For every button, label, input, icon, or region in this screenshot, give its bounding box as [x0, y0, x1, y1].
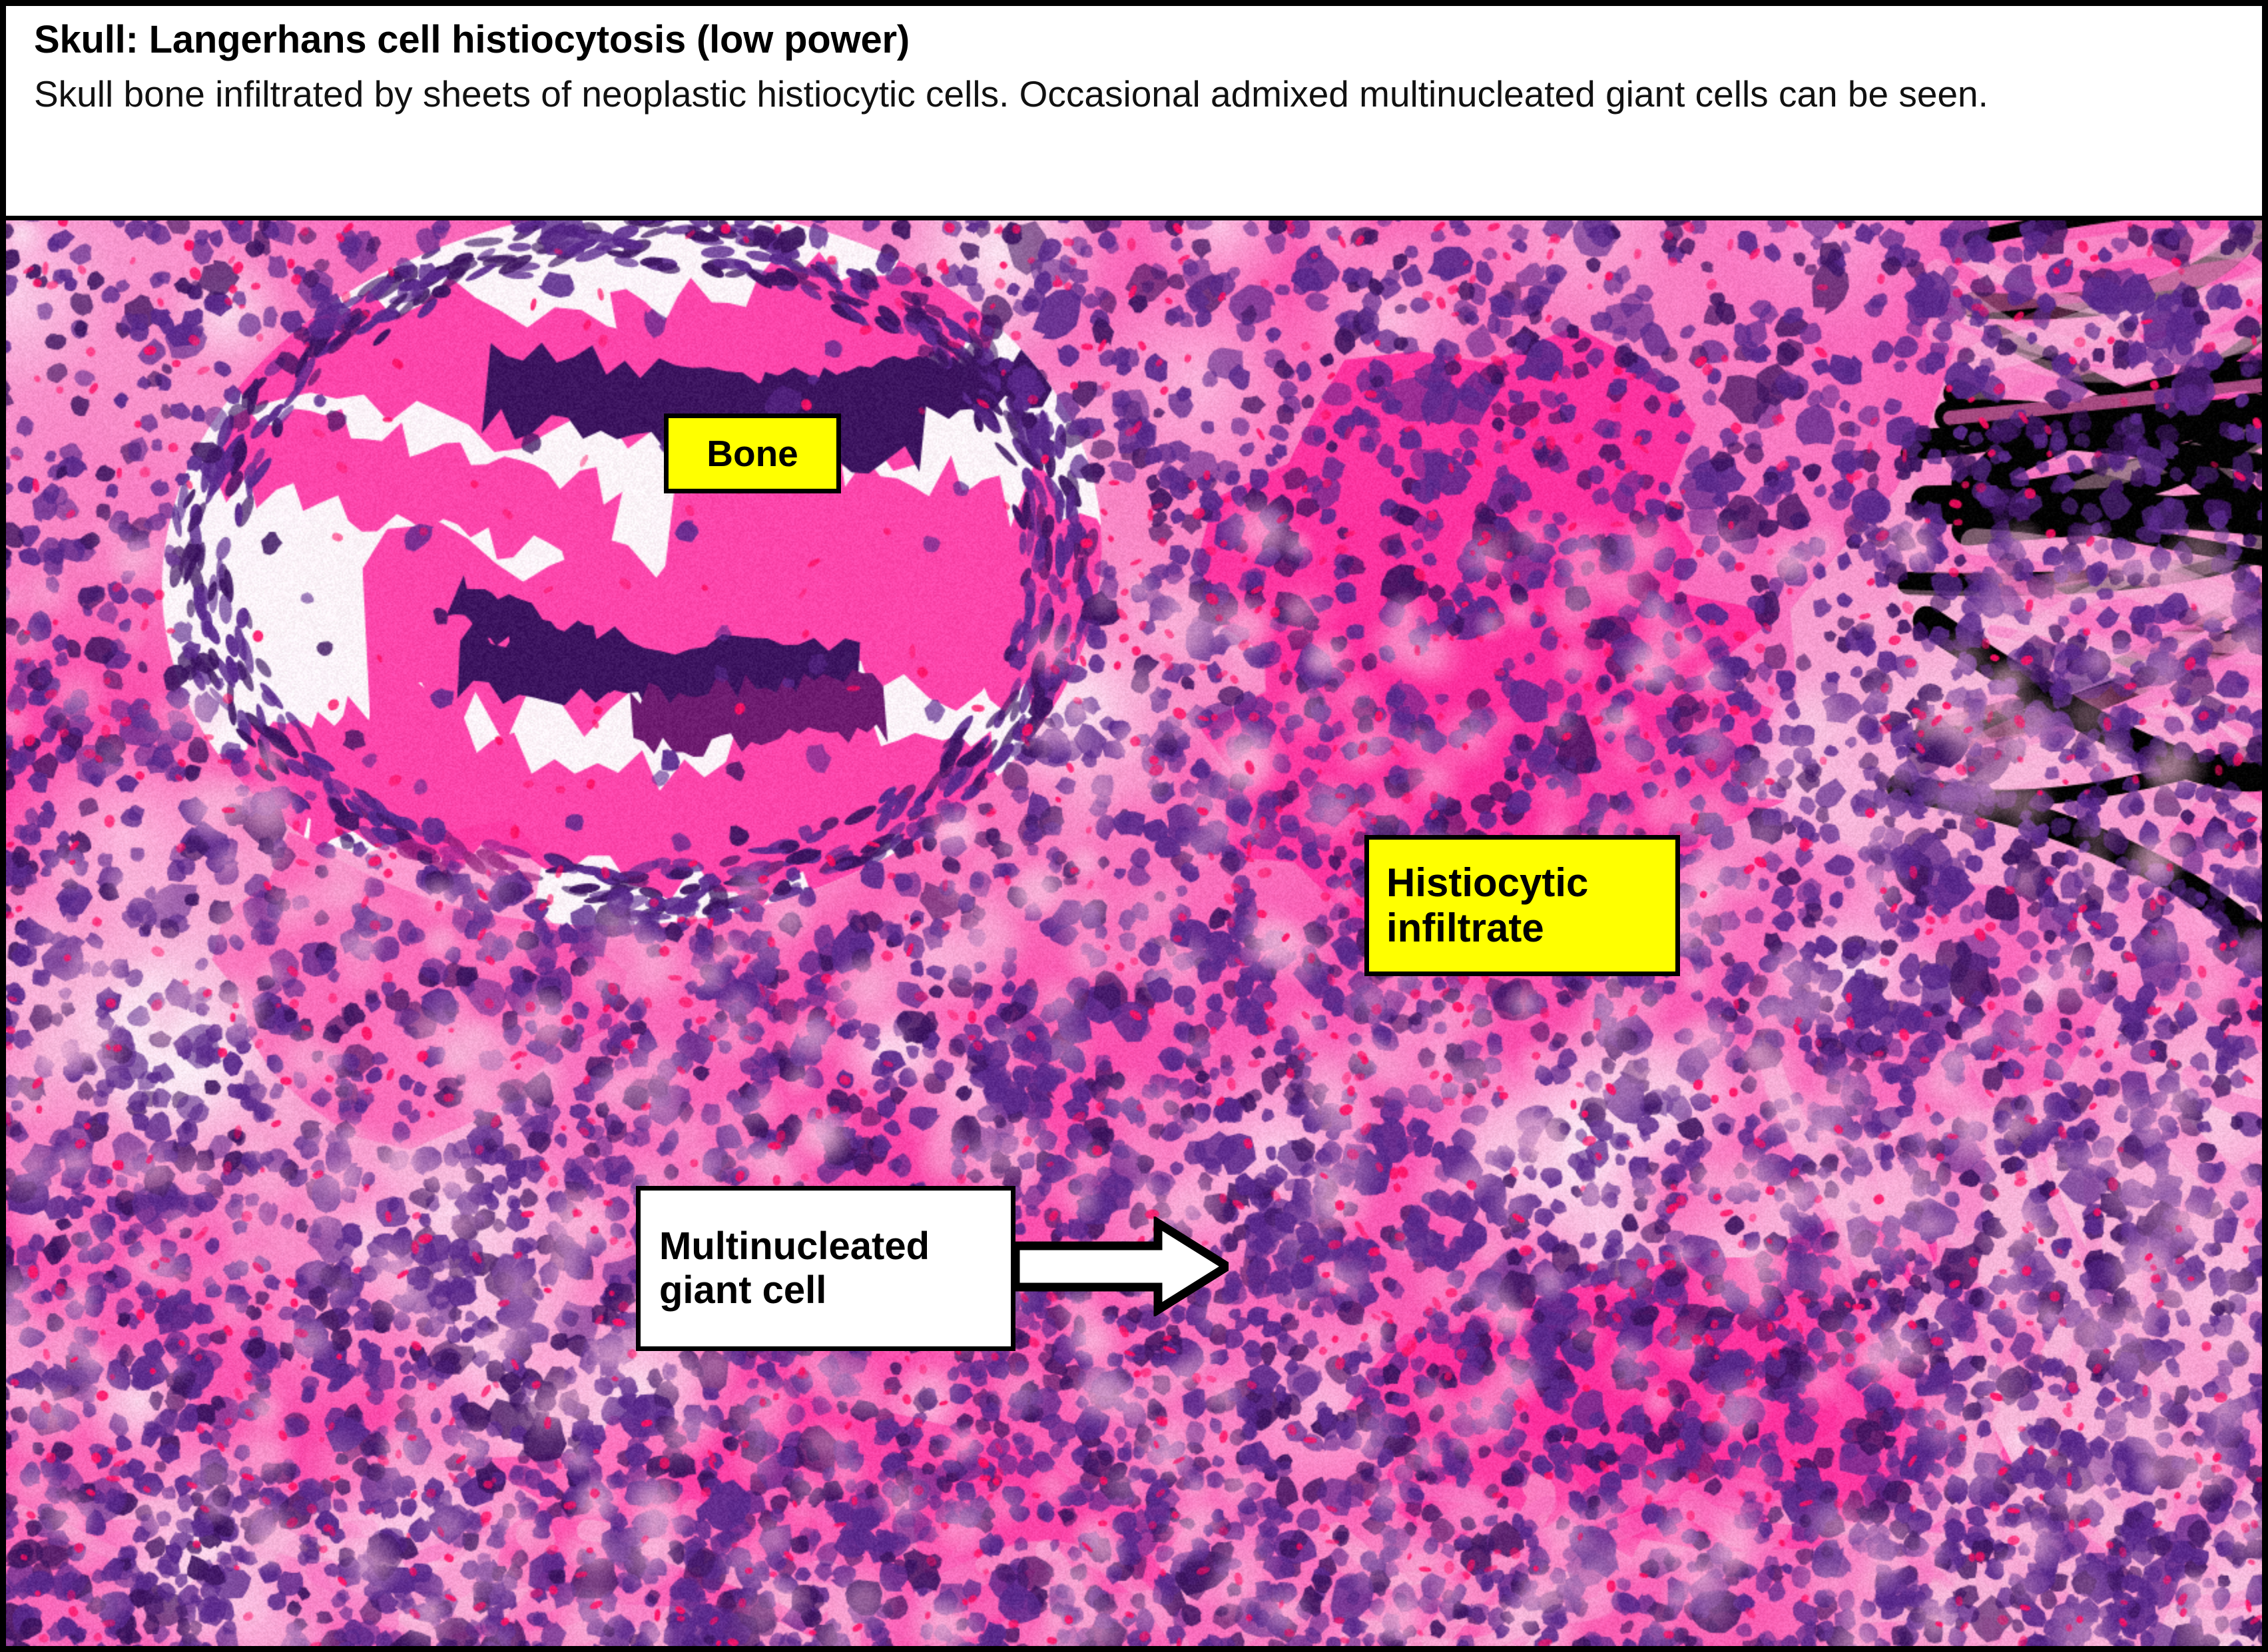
annotation-label-bone-line-1: Bone [707, 433, 798, 475]
annotation-label-histiocytic-line-1: Histiocytic [1386, 860, 1675, 906]
annotation-label-mgc-line-2: giant cell [659, 1268, 1011, 1312]
annotation-label-multinucleated-giant-cell: Multinucleated giant cell [636, 1186, 1015, 1351]
page-title: Skull: Langerhans cell histiocytosis (lo… [34, 18, 2235, 63]
annotation-label-histiocytic-infiltrate: Histiocytic infiltrate [1364, 835, 1680, 976]
annotation-label-mgc-line-1: Multinucleated [659, 1225, 1011, 1268]
annotation-arrow-right-icon [1015, 1217, 1229, 1316]
annotation-label-histiocytic-line-2: infiltrate [1386, 906, 1675, 951]
histology-image-canvas [6, 220, 2262, 1646]
histology-micrograph[interactable]: Bone Histiocytic infiltrate Multinucleat… [6, 220, 2262, 1646]
slide-page: Skull: Langerhans cell histiocytosis (lo… [0, 0, 2268, 1652]
caption-header: Skull: Langerhans cell histiocytosis (lo… [6, 6, 2262, 220]
annotation-label-bone: Bone [664, 413, 841, 493]
caption-description: Skull bone infiltrated by sheets of neop… [34, 71, 2225, 119]
